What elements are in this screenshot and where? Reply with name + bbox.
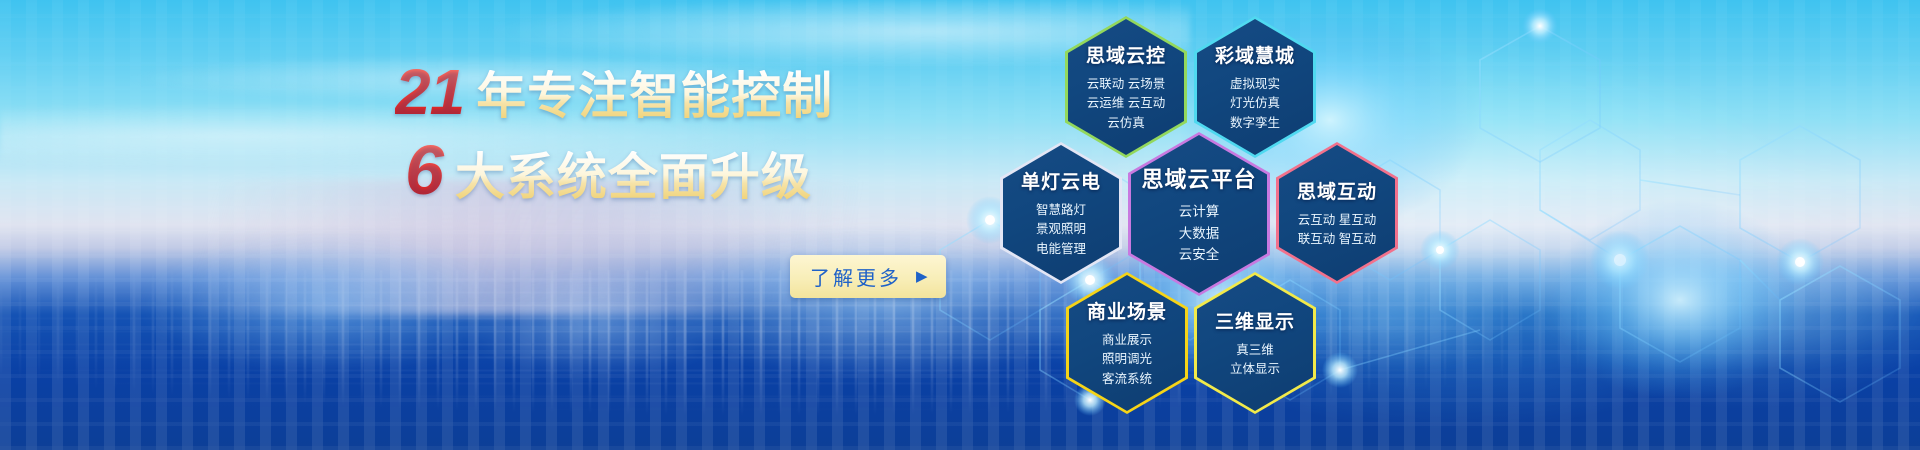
- hex-subline: 照明调光: [1087, 350, 1167, 369]
- hex-subline: 云安全: [1141, 244, 1256, 266]
- headline-number-systems: 6: [405, 137, 455, 204]
- learn-more-label: 了解更多: [810, 262, 902, 291]
- hex-card-interactive[interactable]: 思域互动 云互动 星互动 联互动 智互动: [1276, 142, 1398, 284]
- hex-subline: 智慧路灯: [1021, 201, 1101, 220]
- hex-subline: 联互动 智互动: [1297, 230, 1377, 249]
- learn-more-button[interactable]: 了解更多 ▶: [790, 255, 946, 298]
- hex-subline: 立体显示: [1215, 360, 1295, 379]
- hex-subline: 灯光仿真: [1215, 94, 1295, 113]
- play-arrow-icon: ▶: [916, 269, 928, 284]
- hex-title: 单灯云电: [1021, 167, 1101, 194]
- hex-title: 三维显示: [1215, 307, 1295, 334]
- hex-title: 商业场景: [1087, 297, 1167, 324]
- hex-subline: 大数据: [1141, 223, 1256, 245]
- hex-subline: 真三维: [1215, 341, 1295, 360]
- hex-title: 彩域慧城: [1215, 41, 1295, 68]
- hex-subline: 云联动 云场景: [1086, 75, 1166, 94]
- hex-subline: 虚拟现实: [1215, 75, 1295, 94]
- hex-subline: 云计算: [1141, 201, 1256, 223]
- hex-card-single-lamp[interactable]: 单灯云电 智慧路灯 景观照明 电能管理: [1000, 142, 1122, 284]
- hex-subline: 客流系统: [1087, 370, 1167, 389]
- headline-line-1: 21 年专注智能控制: [395, 62, 955, 123]
- headline-line-2: 6 大系统全面升级: [395, 137, 955, 204]
- hex-card-3d-display[interactable]: 三维显示 真三维 立体显示: [1194, 272, 1316, 414]
- hex-title: 思域云平台: [1141, 162, 1256, 194]
- headline-number-years: 21: [395, 62, 476, 123]
- headline-text-systems: 大系统全面升级: [455, 151, 812, 204]
- hex-title: 思域互动: [1297, 177, 1377, 204]
- promo-banner: 21 年专注智能控制 6 大系统全面升级 了解更多 ▶ 思域云控 云联动 云场景…: [0, 0, 1920, 450]
- hex-subline: 云仿真: [1086, 114, 1166, 133]
- hex-subline: 云互动 星互动: [1297, 211, 1377, 230]
- headline-text-years: 年专注智能控制: [476, 70, 833, 123]
- hex-subline: 商业展示: [1087, 331, 1167, 350]
- hex-subline: 云运维 云互动: [1086, 94, 1166, 113]
- hex-subline: 电能管理: [1021, 240, 1101, 259]
- hexagon-cluster: 思域云控 云联动 云场景 云运维 云互动 云仿真 彩域慧城 虚拟现实 灯光仿真 …: [980, 0, 1920, 450]
- hex-title: 思域云控: [1086, 41, 1166, 68]
- headline-block: 21 年专注智能控制 6 大系统全面升级: [395, 62, 955, 203]
- hex-subline: 景观照明: [1021, 220, 1101, 239]
- hex-card-business-scene[interactable]: 商业场景 商业展示 照明调光 客流系统: [1066, 272, 1188, 414]
- hex-subline: 数字孪生: [1215, 114, 1295, 133]
